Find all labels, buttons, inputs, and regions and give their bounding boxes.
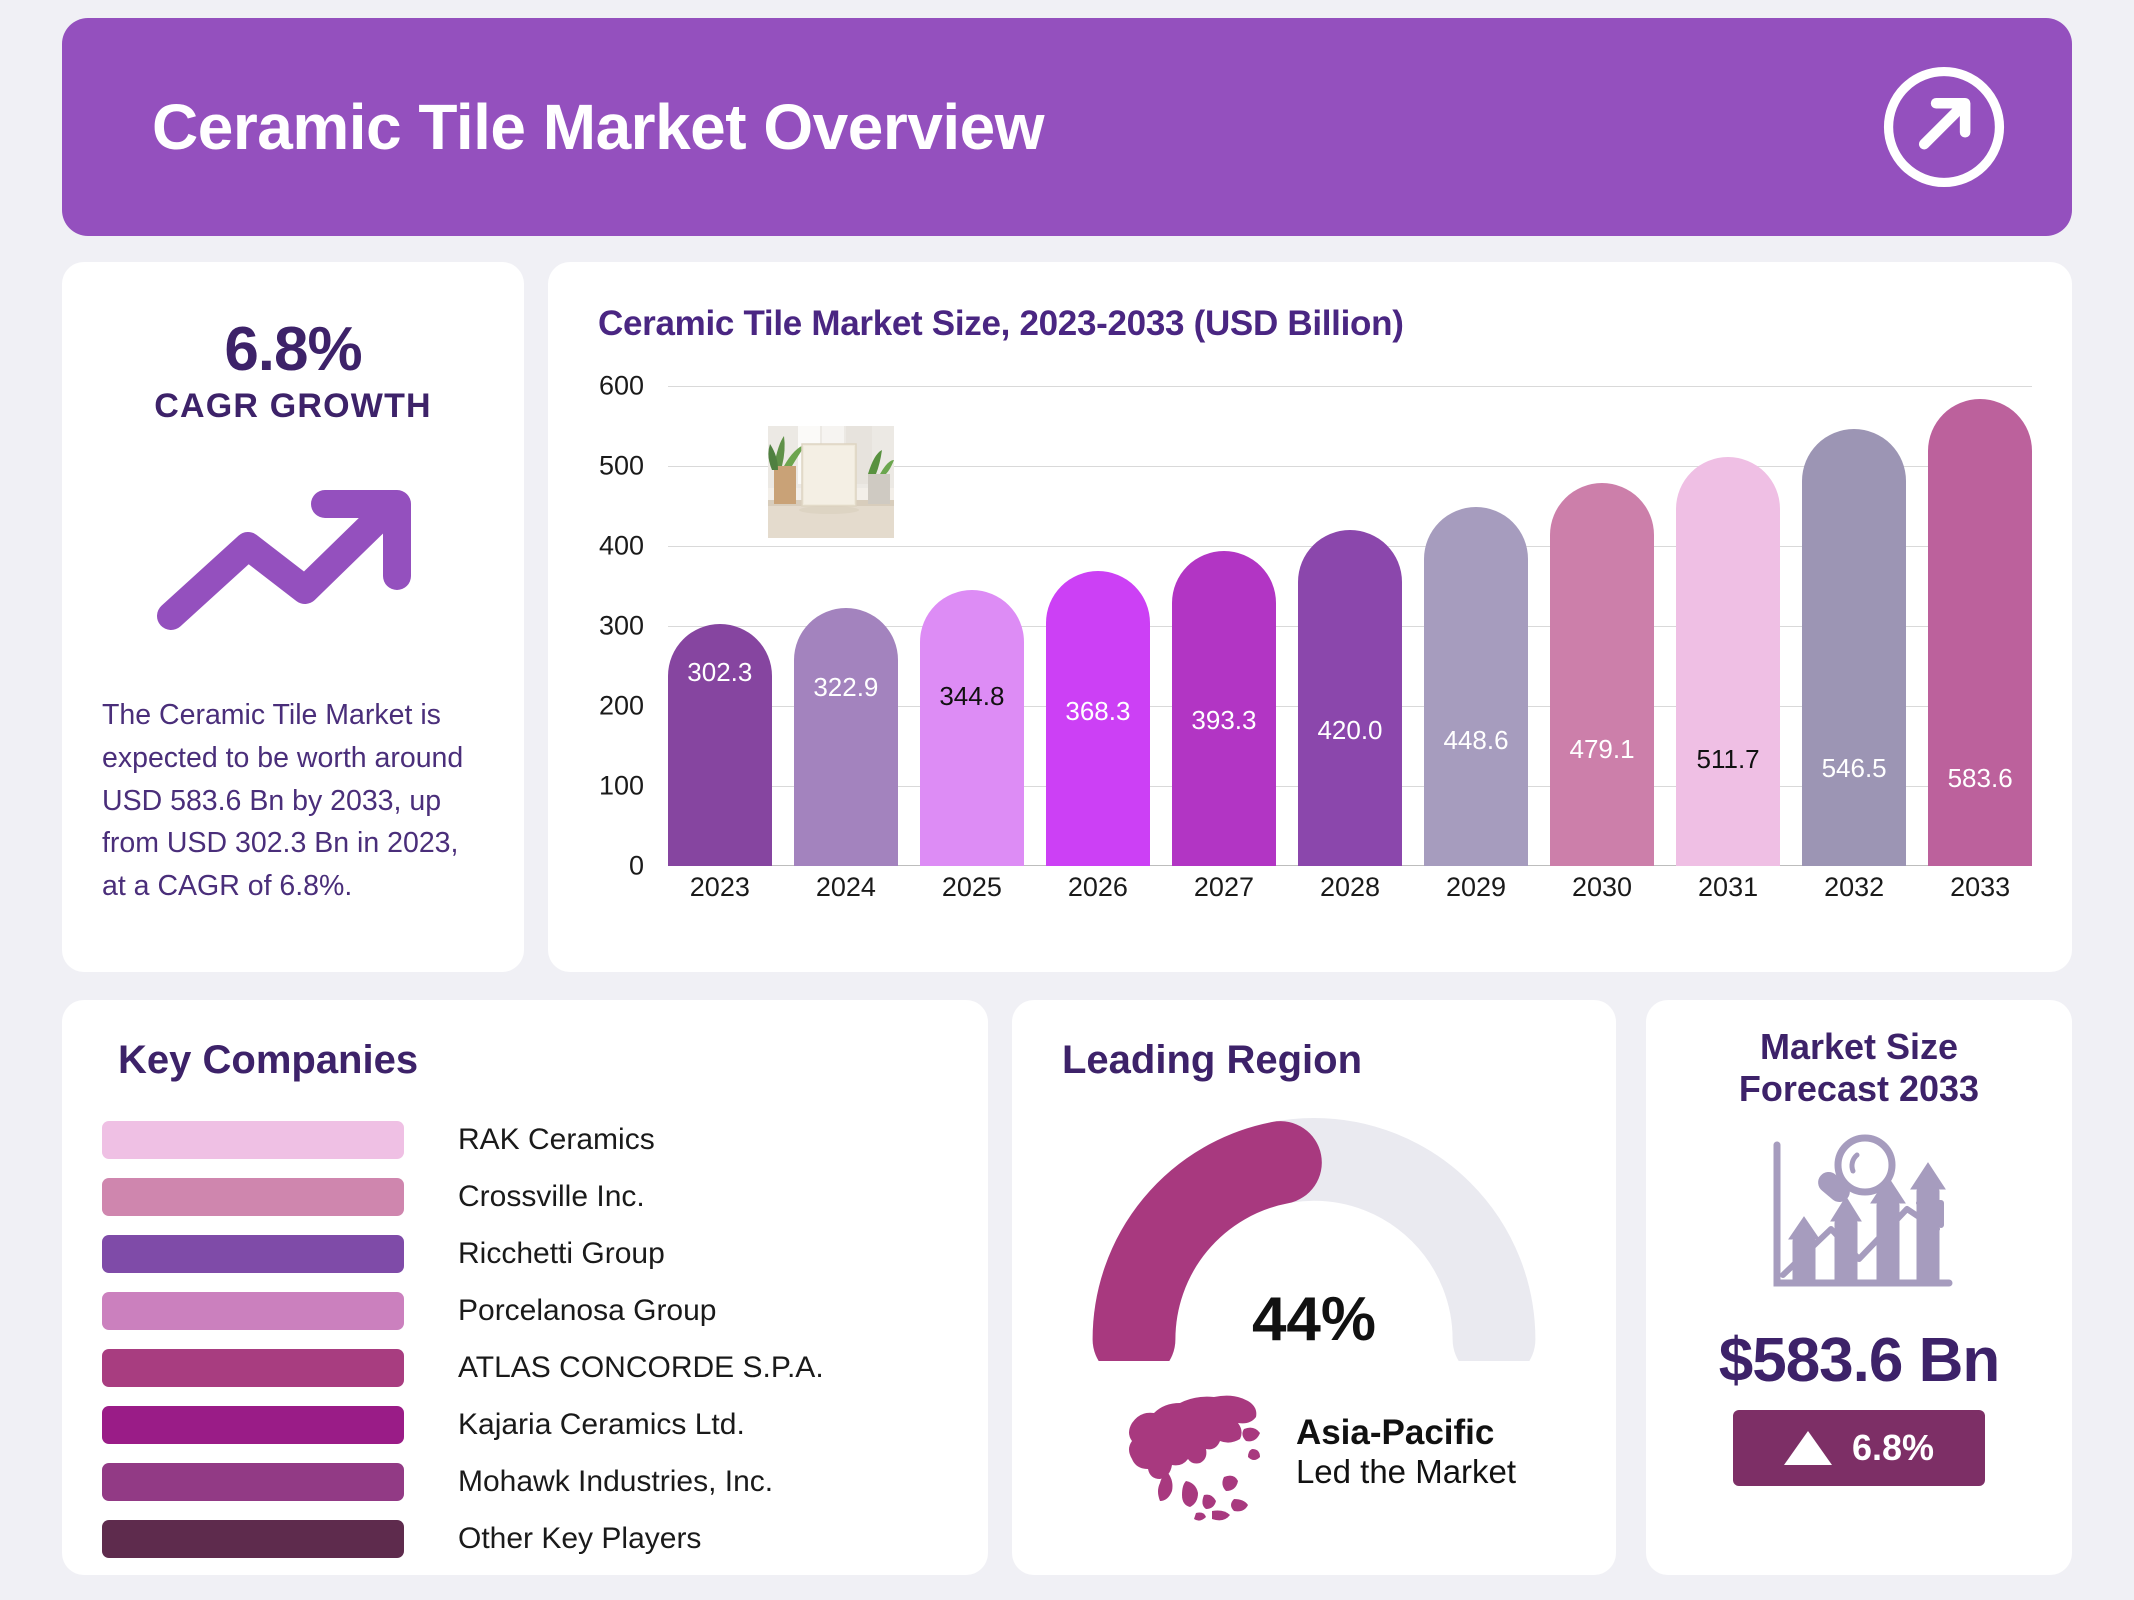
arrow-up-right-circle-icon[interactable]: [1878, 61, 2010, 193]
company-color-swatch: [102, 1520, 404, 1558]
market-size-chart-card: Ceramic Tile Market Size, 2023-2033 (USD…: [548, 262, 2072, 972]
x-axis-label: 2030: [1550, 872, 1654, 903]
cagr-card: 6.8% CAGR GROWTH The Ceramic Tile Market…: [62, 262, 524, 972]
company-color-swatch: [102, 1235, 404, 1273]
y-axis-tick: 600: [599, 371, 644, 402]
x-axis-label: 2032: [1802, 872, 1906, 903]
bar-column[interactable]: 448.6: [1424, 386, 1528, 866]
y-axis-tick: 100: [599, 771, 644, 802]
company-color-swatch: [102, 1178, 404, 1216]
bar-chart: 0100200300400500600 302.3322.9344.8368.3…: [582, 386, 2038, 896]
bar[interactable]: [1676, 457, 1780, 866]
header-banner: Ceramic Tile Market Overview: [62, 18, 2072, 236]
company-name: RAK Ceramics: [458, 1123, 655, 1157]
company-list: RAK CeramicsCrossville Inc.Ricchetti Gro…: [102, 1111, 948, 1567]
bar-value-label: 583.6: [1928, 763, 2032, 794]
growth-chart-magnifier-icon: [1759, 1133, 1959, 1303]
bar-column[interactable]: 420.0: [1298, 386, 1402, 866]
bar-value-label: 479.1: [1550, 734, 1654, 765]
bar-column[interactable]: 479.1: [1550, 386, 1654, 866]
bar[interactable]: [1802, 429, 1906, 866]
bar-value-label: 448.6: [1424, 725, 1528, 756]
list-item: RAK Ceramics: [102, 1111, 948, 1168]
company-name: Mohawk Industries, Inc.: [458, 1465, 773, 1499]
x-axis-label: 2023: [668, 872, 772, 903]
leading-region-card: Leading Region 44%: [1012, 1000, 1616, 1575]
region-footer: Asia-Pacific Led the Market: [1046, 1377, 1582, 1527]
forecast-title-line2: Forecast 2033: [1672, 1068, 2046, 1110]
region-subtitle: Led the Market: [1296, 1453, 1516, 1492]
x-axis-label: 2028: [1298, 872, 1402, 903]
region-label-block: Asia-Pacific Led the Market: [1296, 1412, 1516, 1492]
bar[interactable]: [1424, 507, 1528, 866]
forecast-title-line1: Market Size: [1672, 1026, 2046, 1068]
bar-value-label: 546.5: [1802, 753, 1906, 784]
list-item: Mohawk Industries, Inc.: [102, 1453, 948, 1510]
bar-value-label: 368.3: [1046, 696, 1150, 727]
company-color-swatch: [102, 1463, 404, 1501]
bar-column[interactable]: 583.6: [1928, 386, 2032, 866]
bar-value-label: 393.3: [1172, 705, 1276, 736]
region-name: Asia-Pacific: [1296, 1412, 1516, 1453]
cagr-description: The Ceramic Tile Market is expected to b…: [102, 694, 484, 908]
bar-value-label: 511.7: [1676, 744, 1780, 775]
list-item: Crossville Inc.: [102, 1168, 948, 1225]
plot-area: 302.3322.9344.8368.3393.3420.0448.6479.1…: [668, 386, 2032, 866]
cagr-value: 6.8%: [102, 314, 484, 385]
company-color-swatch: [102, 1406, 404, 1444]
list-item: Other Key Players: [102, 1510, 948, 1567]
bar-value-label: 420.0: [1298, 715, 1402, 746]
infographic-page: Ceramic Tile Market Overview 6.8% CAGR G…: [0, 0, 2134, 1600]
x-axis-label: 2025: [920, 872, 1024, 903]
x-axis-label: 2029: [1424, 872, 1528, 903]
y-axis-tick: 500: [599, 451, 644, 482]
bar[interactable]: [1298, 530, 1402, 866]
y-axis-tick: 0: [629, 851, 644, 882]
bar-column[interactable]: 344.8: [920, 386, 1024, 866]
bar[interactable]: [1928, 399, 2032, 866]
bar-column[interactable]: 511.7: [1676, 386, 1780, 866]
list-item: Kajaria Ceramics Ltd.: [102, 1396, 948, 1453]
bar-value-label: 322.9: [794, 672, 898, 703]
region-share-gauge: 44%: [1064, 1109, 1564, 1361]
y-axis: 0100200300400500600: [582, 386, 656, 866]
y-axis-tick: 300: [599, 611, 644, 642]
forecast-growth-badge: 6.8%: [1733, 1410, 1985, 1486]
gauge-value: 44%: [1064, 1284, 1564, 1355]
page-title: Ceramic Tile Market Overview: [90, 90, 1044, 164]
x-axis-labels: 2023202420252026202720282029203020312032…: [668, 872, 2032, 903]
bar[interactable]: [1550, 483, 1654, 866]
bar-column[interactable]: 546.5: [1802, 386, 1906, 866]
x-axis-label: 2027: [1172, 872, 1276, 903]
bar-column[interactable]: 393.3: [1172, 386, 1276, 866]
forecast-value: $583.6 Bn: [1672, 1325, 2046, 1396]
asia-pacific-map-icon: [1112, 1377, 1278, 1527]
market-size-forecast-card: Market Size Forecast 2033 $583.6 Bn: [1646, 1000, 2072, 1575]
company-name: Other Key Players: [458, 1522, 701, 1556]
x-axis-label: 2031: [1676, 872, 1780, 903]
leading-region-title: Leading Region: [1062, 1038, 1582, 1083]
list-item: Ricchetti Group: [102, 1225, 948, 1282]
company-name: Crossville Inc.: [458, 1180, 645, 1214]
list-item: ATLAS CONCORDE S.P.A.: [102, 1339, 948, 1396]
company-name: Porcelanosa Group: [458, 1294, 717, 1328]
company-name: ATLAS CONCORDE S.P.A.: [458, 1351, 824, 1385]
x-axis-label: 2024: [794, 872, 898, 903]
y-axis-tick: 200: [599, 691, 644, 722]
x-axis-label: 2026: [1046, 872, 1150, 903]
bar-value-label: 344.8: [920, 681, 1024, 712]
chart-title: Ceramic Tile Market Size, 2023-2033 (USD…: [598, 304, 2038, 344]
bar-column[interactable]: 302.3: [668, 386, 772, 866]
forecast-title: Market Size Forecast 2033: [1672, 1026, 2046, 1111]
growth-arrow-icon: [153, 468, 433, 638]
company-name: Kajaria Ceramics Ltd.: [458, 1408, 745, 1442]
ceramic-tile-room-photo: [768, 426, 894, 538]
list-item: Porcelanosa Group: [102, 1282, 948, 1339]
triangle-up-icon: [1784, 1431, 1832, 1465]
company-name: Ricchetti Group: [458, 1237, 665, 1271]
bar-value-label: 302.3: [668, 657, 772, 688]
cagr-label: CAGR GROWTH: [102, 387, 484, 426]
company-color-swatch: [102, 1292, 404, 1330]
badge-value: 6.8%: [1852, 1427, 1934, 1469]
key-companies-title: Key Companies: [118, 1038, 948, 1083]
bar[interactable]: [794, 608, 898, 866]
y-axis-tick: 400: [599, 531, 644, 562]
company-color-swatch: [102, 1349, 404, 1387]
x-axis-label: 2033: [1928, 872, 2032, 903]
company-color-swatch: [102, 1121, 404, 1159]
bar-column[interactable]: 368.3: [1046, 386, 1150, 866]
key-companies-card: Key Companies RAK CeramicsCrossville Inc…: [62, 1000, 988, 1575]
bar[interactable]: [920, 590, 1024, 866]
